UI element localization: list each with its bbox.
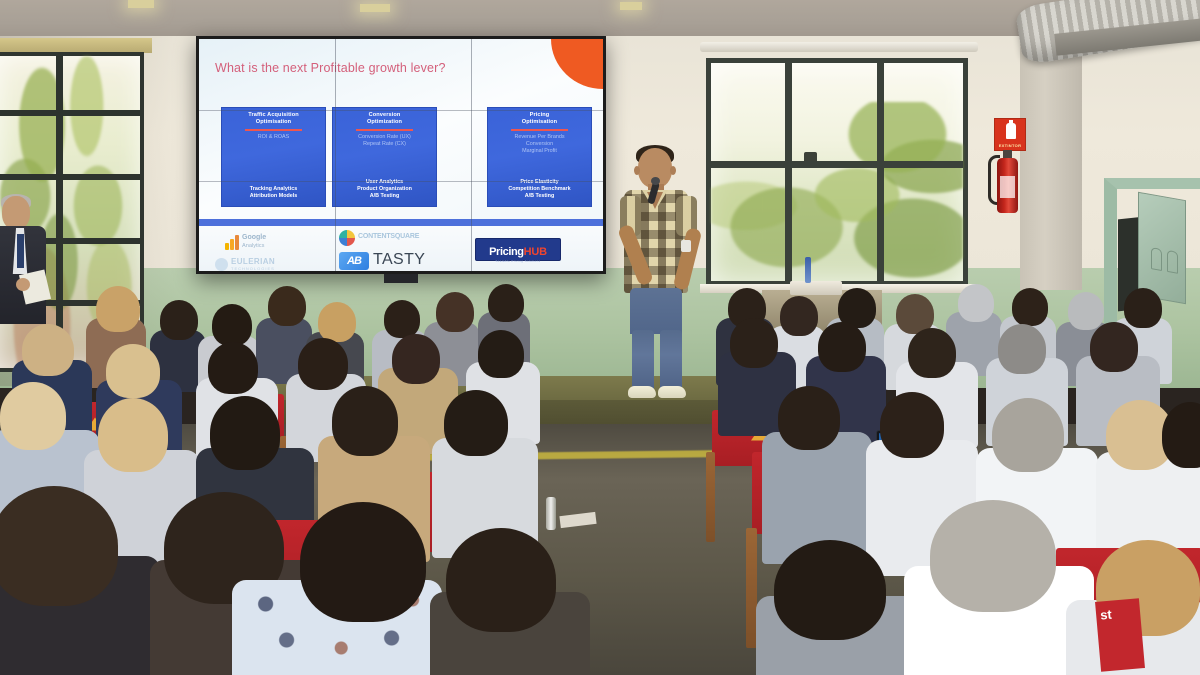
box-tool: Product Organization — [333, 186, 436, 193]
audience-head — [392, 334, 440, 384]
google-analytics-label: Google Analytics — [242, 234, 266, 250]
box-metric: Marginal Profit — [488, 148, 591, 155]
videowall-seam — [199, 181, 603, 182]
audience-head — [1124, 288, 1162, 328]
eulerian-icon — [215, 258, 228, 271]
logo-pricinghub: PricingHUB Scalable Pricing Solutions — [475, 234, 571, 271]
box-tool: Competition Benchmark — [488, 186, 591, 193]
audience-head — [318, 302, 356, 342]
conference-photo-scene: EXTINTOR What is the next Profitable gro… — [0, 0, 1200, 675]
audience-head — [444, 390, 508, 456]
audience-head — [880, 392, 944, 458]
presenter — [606, 148, 710, 396]
presentation-screen[interactable]: What is the next Profitable growth lever… — [196, 36, 606, 274]
audience-head — [446, 528, 556, 632]
audience-head — [384, 300, 420, 338]
audience-head — [106, 344, 160, 398]
box-underline — [245, 129, 303, 131]
table-box — [790, 281, 842, 295]
water-bottle-floor — [546, 497, 556, 530]
right-window-foliage — [711, 102, 963, 281]
audience-head — [268, 286, 306, 326]
audience-head — [818, 322, 866, 372]
presenter-leg — [660, 330, 682, 392]
slide-content: What is the next Profitable growth lever… — [199, 39, 603, 271]
google-analytics-icon — [225, 235, 239, 250]
videowall-seam — [335, 39, 336, 271]
box-underline — [356, 129, 414, 131]
suit-man-tie — [17, 234, 24, 268]
screen-mount — [384, 274, 418, 283]
extinguisher-label — [1000, 176, 1015, 198]
audience-head-grey — [930, 500, 1056, 612]
audience-head-blonde — [0, 382, 66, 450]
slide-logo-strip: Google Analytics EULERIAN TECHNOLOGIES C… — [199, 219, 603, 271]
audience-head — [730, 318, 778, 368]
pricinghub-badge: PricingHUB Scalable Pricing Solutions — [475, 238, 561, 261]
pillar-box-traffic-acquisition: Traffic Acquisition Optimisation ROI & R… — [221, 107, 326, 207]
audience-head — [478, 330, 524, 378]
box-tool: A/B Testing — [488, 193, 591, 200]
audience-head — [1012, 288, 1048, 326]
box-heading-line1: Conversion — [333, 112, 436, 119]
audience-head — [300, 502, 426, 622]
audience-head — [436, 292, 474, 332]
right-window — [706, 58, 968, 286]
audience-head — [780, 296, 818, 336]
contentsquare-icon — [339, 230, 355, 246]
pillar-box-conversion: Conversion Optimization Conversion Rate … — [332, 107, 437, 207]
box-heading-line2: Optimisation — [222, 119, 325, 126]
microphone-head-icon — [651, 177, 660, 185]
audience-head — [0, 486, 118, 606]
box-underline — [511, 129, 569, 131]
audience-head — [212, 304, 252, 346]
audience-head — [208, 342, 258, 394]
water-bottle-sill — [805, 257, 811, 283]
audience-head — [488, 284, 524, 322]
audience-head — [22, 324, 74, 376]
pricinghub-tagline: Scalable Pricing Solutions — [476, 259, 560, 263]
side-banner: st — [1095, 598, 1145, 672]
videowall-seam — [471, 39, 472, 271]
audience-head — [160, 300, 198, 340]
pricinghub-word1: Pricing — [489, 246, 524, 258]
suit-man-hand — [16, 278, 30, 291]
box-metric: ROI & ROAS — [222, 134, 325, 141]
box-tool: A/B Testing — [333, 193, 436, 200]
presenter-shoe — [628, 386, 656, 398]
presenter-clicker[interactable] — [681, 240, 691, 252]
audience-head — [298, 338, 348, 390]
blind-rail — [700, 42, 978, 52]
ceiling-light — [128, 0, 154, 8]
audience-head — [210, 396, 280, 470]
audience-head-grey — [992, 398, 1064, 472]
extinguisher-pictogram-icon — [1006, 123, 1016, 139]
suit-man-head — [2, 196, 30, 230]
window-header-beam — [0, 38, 152, 53]
abtasty-icon: AB — [339, 252, 369, 270]
box-heading-line2: Optimization — [333, 119, 436, 126]
abtasty-label: TASTY — [373, 251, 425, 269]
audience-head — [998, 324, 1046, 374]
logo-abtasty: AB TASTY — [339, 250, 469, 271]
box-metric: Repeat Rate (CX) — [333, 141, 436, 148]
box-metric: Conversion Rate (UX) — [333, 134, 436, 141]
pillar-box-pricing: Pricing Optimisation Revenue Per Brands … — [487, 107, 592, 207]
presenter-ear — [670, 166, 676, 175]
chair-leg — [706, 452, 715, 542]
eulerian-label: EULERIAN TECHNOLOGIES — [231, 257, 275, 271]
presenter-leg — [632, 330, 654, 392]
presenter-jeans — [630, 288, 682, 334]
audience-head — [774, 540, 886, 640]
box-heading-line1: Traffic Acquisition — [222, 112, 325, 119]
contentsquare-label: CONTENTSQUARE — [358, 233, 419, 240]
logo-eulerian: EULERIAN TECHNOLOGIES — [213, 252, 321, 271]
audience-head — [1090, 322, 1138, 372]
box-tool: Attribution Models — [222, 193, 325, 200]
fire-extinguisher-sign: EXTINTOR — [994, 118, 1026, 151]
ceiling-light — [620, 2, 642, 10]
audience-head — [778, 386, 840, 450]
wall-pillar — [1020, 40, 1082, 290]
ceiling-light — [360, 4, 390, 12]
audience-head — [908, 328, 956, 378]
box-tool: Tracking Analytics — [222, 186, 325, 193]
videowall-seam — [199, 110, 603, 111]
audience-head — [332, 386, 398, 456]
audience-head — [96, 286, 140, 332]
window-handle[interactable] — [804, 152, 817, 161]
audience-head — [1068, 292, 1104, 330]
pricinghub-word2: HUB — [524, 246, 547, 258]
box-heading-line2: Optimisation — [488, 119, 591, 126]
audience-head-blonde — [98, 398, 168, 472]
audience-head — [1162, 402, 1200, 468]
extinguisher-sign-label: EXTINTOR — [995, 143, 1025, 148]
presenter-shoe — [658, 386, 686, 398]
slide-pillar-boxes: Traffic Acquisition Optimisation ROI & R… — [215, 107, 589, 209]
slide-title: What is the next Profitable growth lever… — [215, 61, 446, 75]
presenter-ear — [634, 166, 640, 175]
standing-man-in-suit — [0, 196, 56, 324]
audience-head — [958, 284, 994, 322]
box-metric: Revenue Per Brands — [488, 134, 591, 141]
slide-corner-accent — [551, 39, 603, 89]
box-metric: Conversion — [488, 141, 591, 148]
box-heading-line1: Pricing — [488, 112, 591, 119]
